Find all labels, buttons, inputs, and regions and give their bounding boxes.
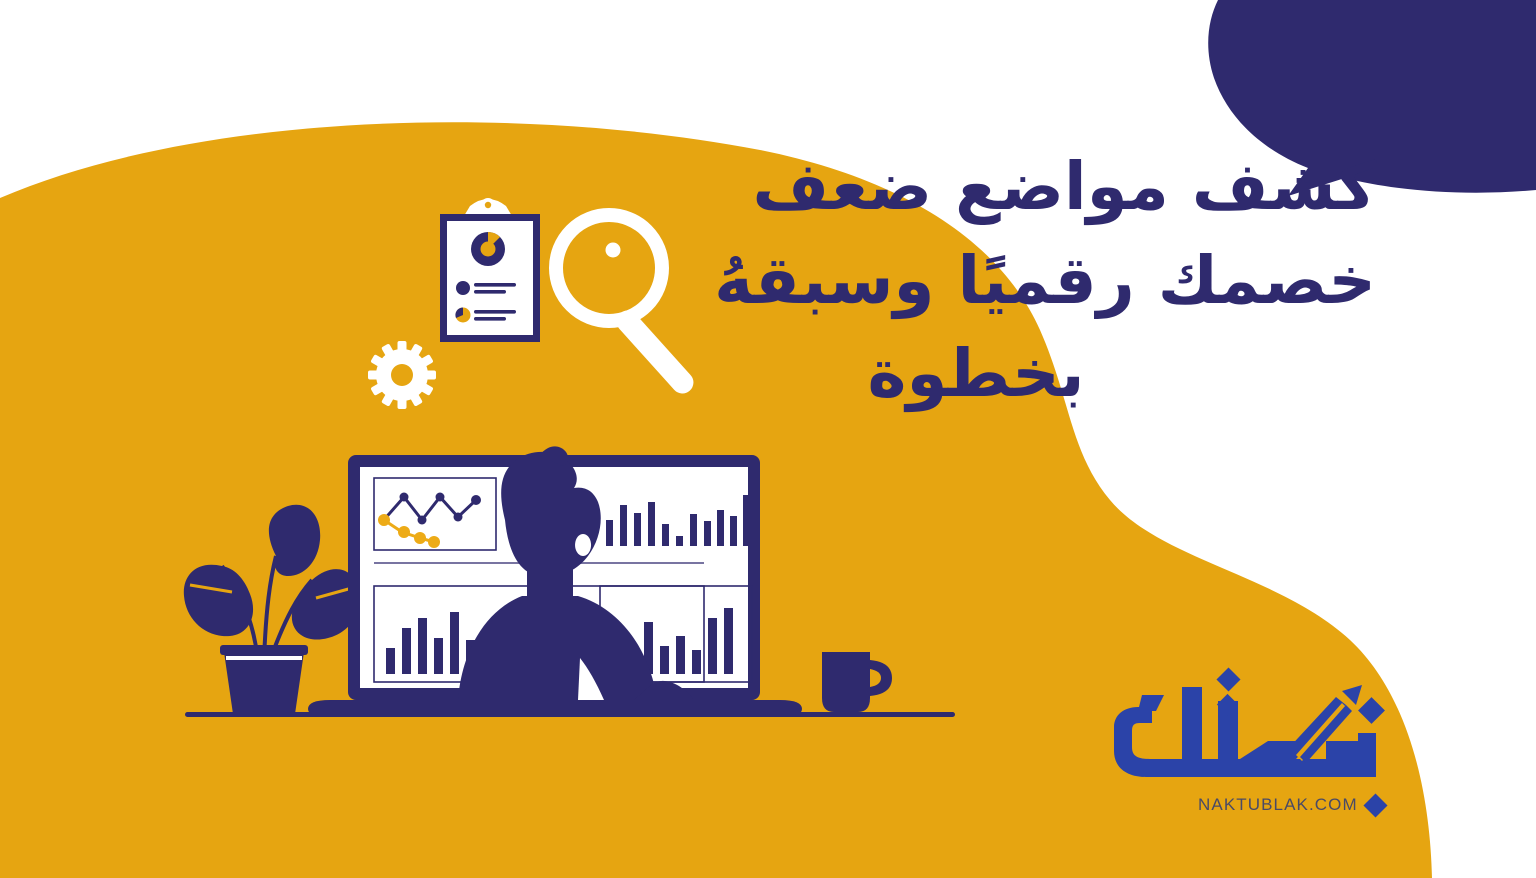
logo-url-text: NAKTUBLAK.COM	[1198, 795, 1358, 815]
magnifier-icon	[556, 215, 698, 398]
potted-plant	[184, 505, 360, 714]
diamond-icon	[1363, 793, 1387, 817]
logo-url-row[interactable]: NAKTUBLAK.COM	[1198, 795, 1384, 815]
naktublak-wordmark	[1090, 655, 1420, 795]
coffee-mug	[822, 652, 892, 712]
promo-banner: كشف مواضع ضعف خصمك رقميًا وسبقهُ بخطوة	[0, 0, 1536, 878]
desk-line	[185, 712, 955, 717]
brand-logo[interactable]: NAKTUBLAK.COM	[1090, 655, 1430, 835]
clipboard-icon	[440, 198, 540, 342]
gear-icon	[368, 341, 436, 409]
